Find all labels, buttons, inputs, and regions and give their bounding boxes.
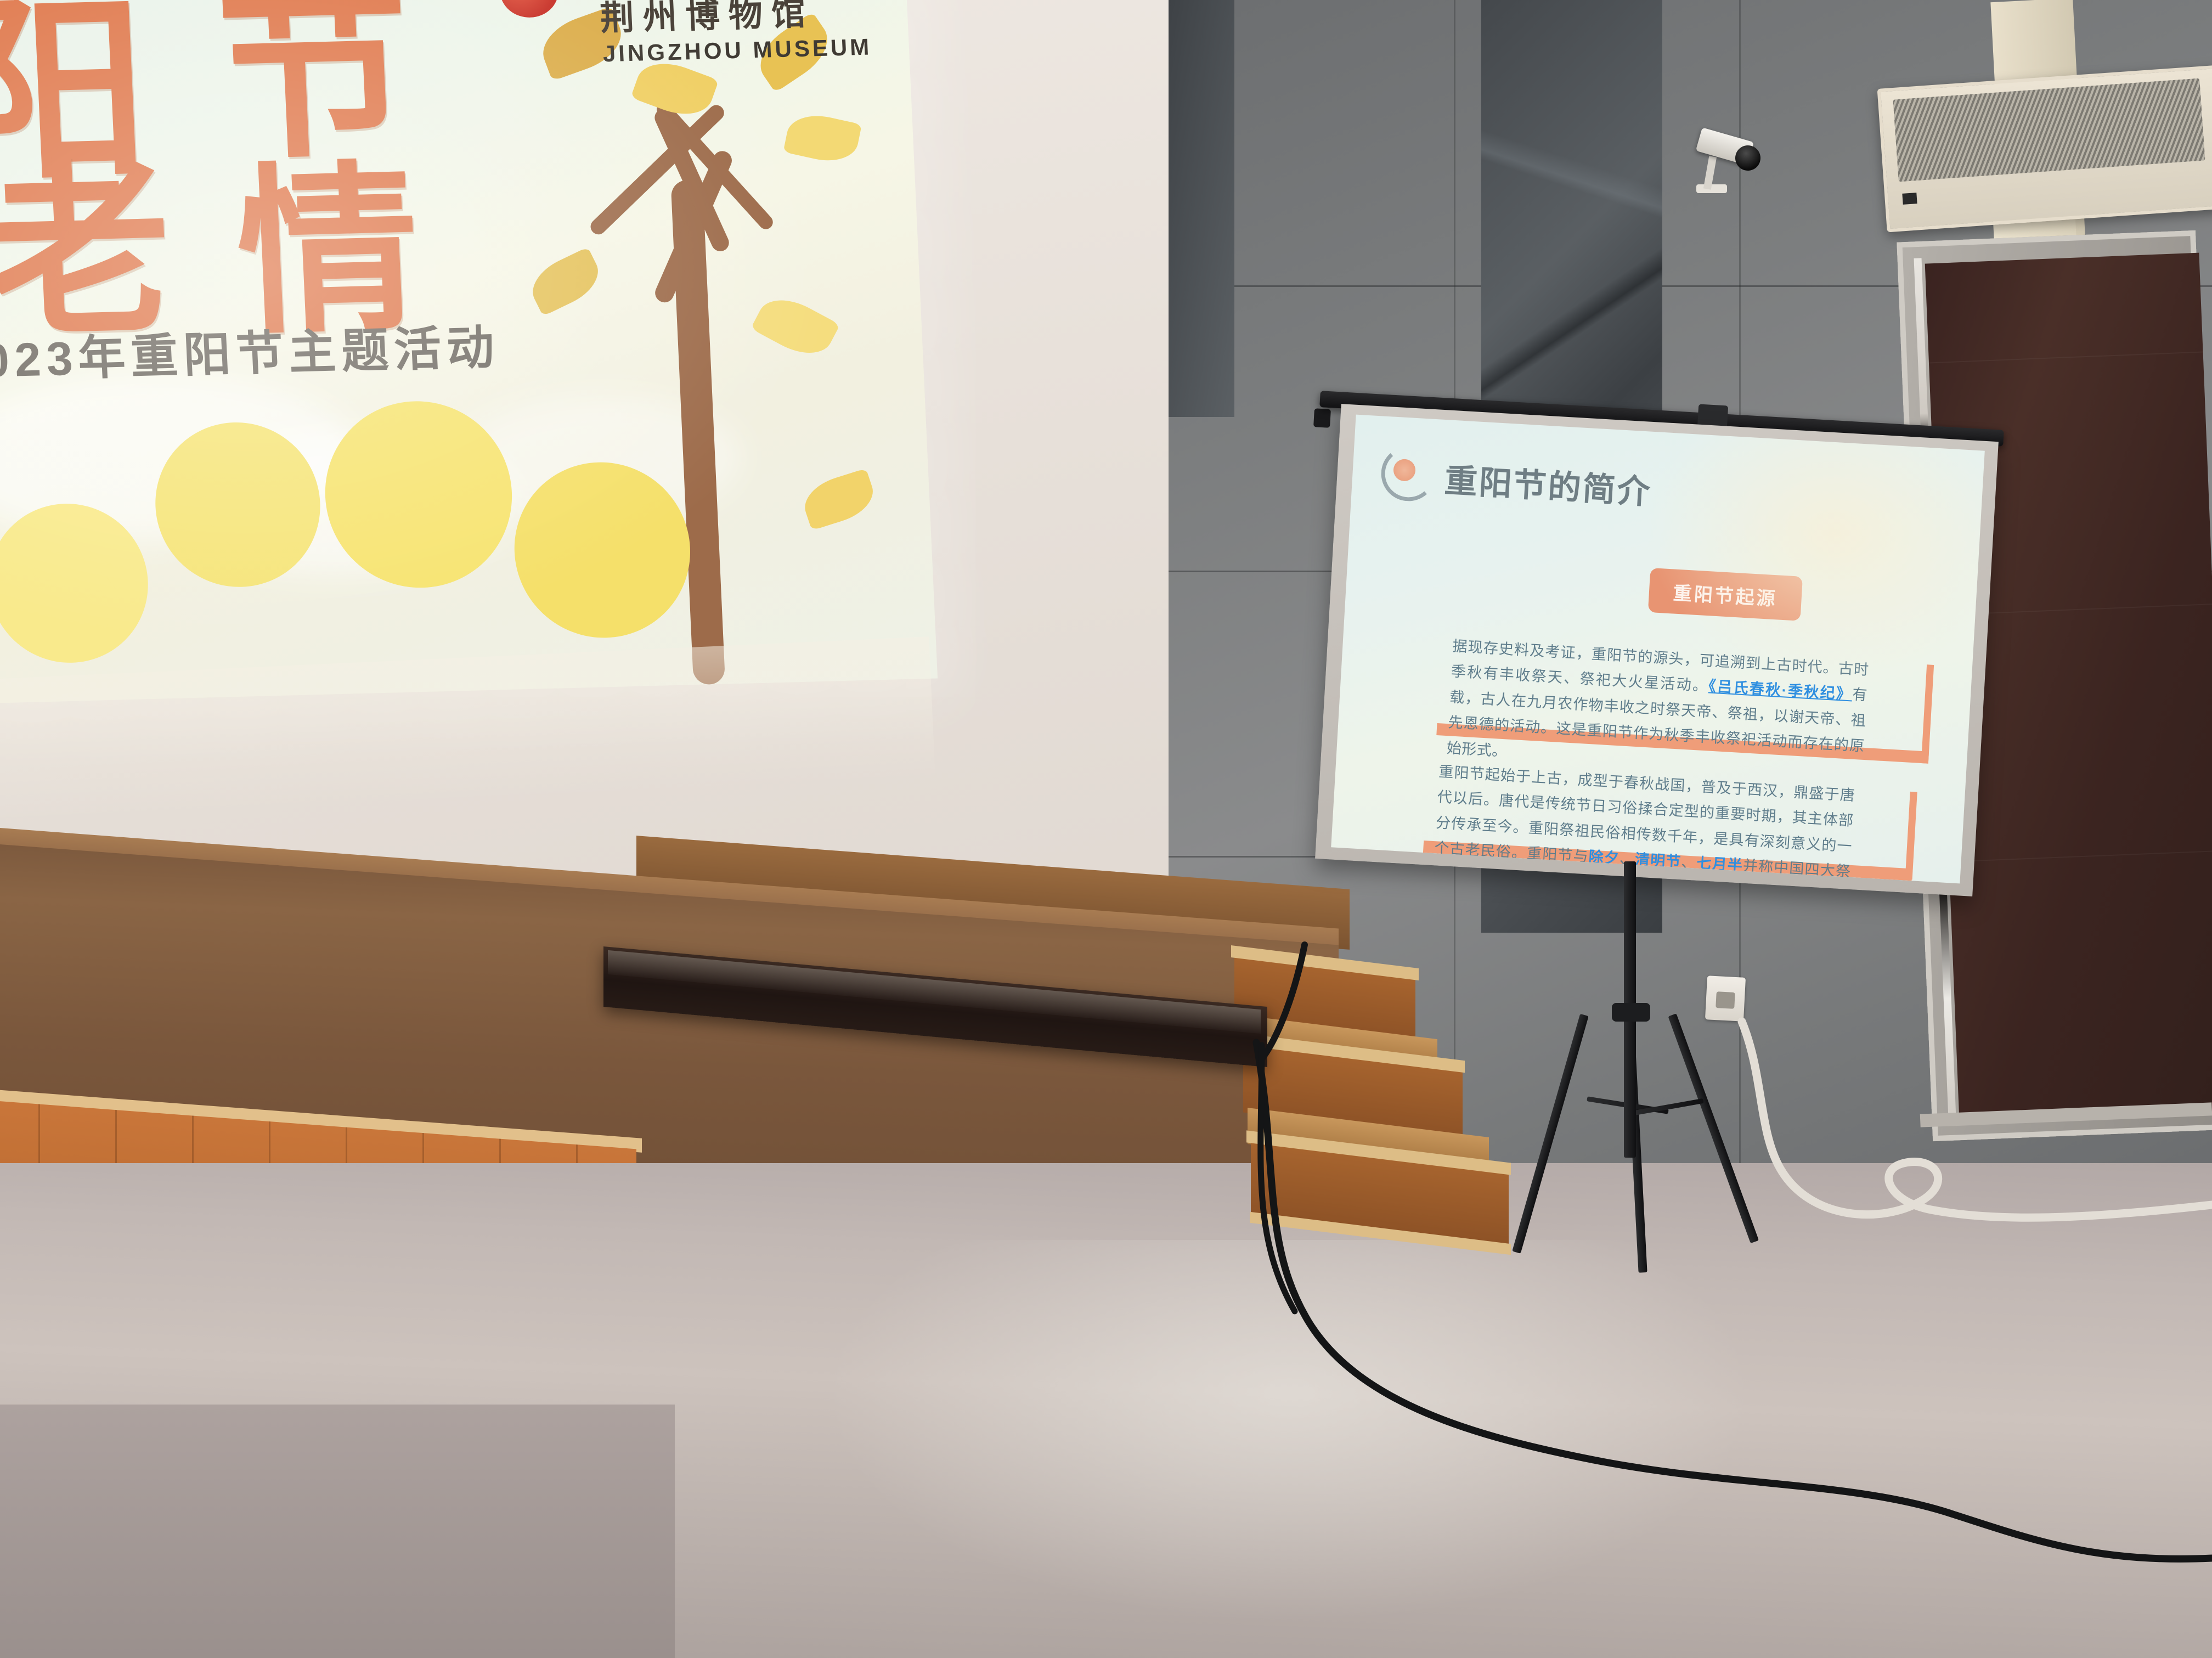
lecture-hall-photo: 阳 节 老 情 荆州博物馆 JINGZHOU MUSEUM <box>0 0 2212 1658</box>
floor-cables <box>0 0 2212 1658</box>
